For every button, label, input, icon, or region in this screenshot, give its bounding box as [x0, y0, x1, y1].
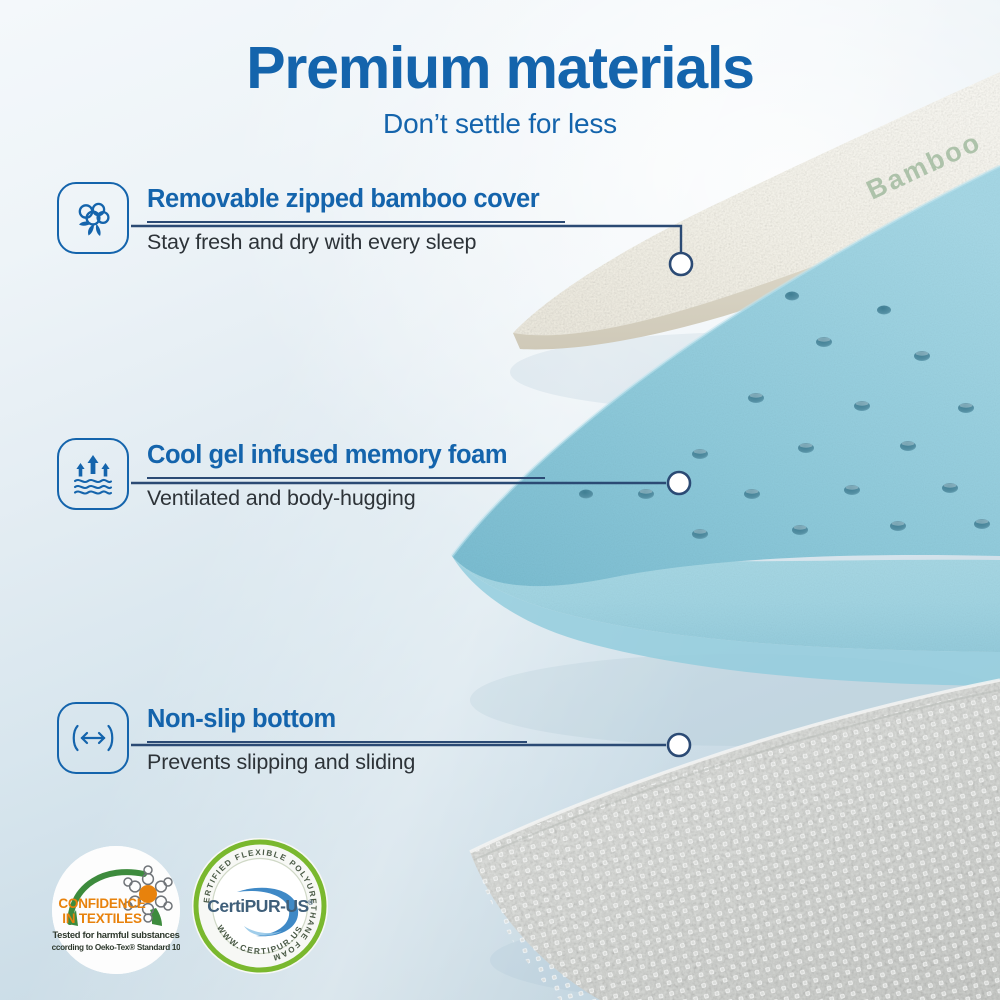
cotton-boll-icon	[57, 182, 129, 254]
feature-divider	[147, 741, 527, 743]
oekotex-line1: CONFIDENCE	[58, 896, 145, 911]
feature-text: Removable zipped bamboo cover Stay fresh…	[147, 182, 565, 255]
feature-subtitle: Ventilated and body-hugging	[147, 486, 545, 511]
oekotex-line4: according to Oeko-Tex® Standard 100	[52, 943, 180, 952]
feature-subtitle: Stay fresh and dry with every sleep	[147, 230, 565, 255]
horizontal-arrow-grip-icon	[57, 702, 129, 774]
feature-non-slip-bottom: Non-slip bottom Prevents slipping and sl…	[57, 702, 527, 775]
airflow-waves-icon	[57, 438, 129, 510]
feature-text: Cool gel infused memory foam Ventilated …	[147, 438, 545, 511]
feature-subtitle: Prevents slipping and sliding	[147, 750, 527, 775]
feature-gel-memory-foam: Cool gel infused memory foam Ventilated …	[57, 438, 545, 511]
certipur-center-text: CertiPUR-US	[207, 896, 308, 916]
page-title: Premium materials	[0, 38, 1000, 98]
oekotex-line2: IN TEXTILES	[62, 911, 142, 926]
feature-title: Non-slip bottom	[147, 705, 527, 734]
feature-bamboo-cover: Removable zipped bamboo cover Stay fresh…	[57, 182, 565, 255]
badge-certipur-us: CONTAINS CERTIFIED FLEXIBLE POLYURETHANE…	[192, 838, 328, 974]
page-subtitle: Don’t settle for less	[0, 108, 1000, 140]
certipur-registered-mark: ®	[308, 899, 314, 907]
feature-text: Non-slip bottom Prevents slipping and sl…	[147, 702, 527, 775]
infographic-canvas: Bamboo	[0, 0, 1000, 1000]
feature-title: Cool gel infused memory foam	[147, 441, 545, 470]
feature-title: Removable zipped bamboo cover	[147, 185, 565, 214]
badge-oeko-tex: CONFIDENCE IN TEXTILES Tested for harmfu…	[52, 846, 180, 974]
header: Premium materials Don’t settle for less	[0, 38, 1000, 140]
feature-divider	[147, 221, 565, 223]
feature-divider	[147, 477, 545, 479]
oekotex-line3: Tested for harmful substances	[52, 929, 179, 940]
